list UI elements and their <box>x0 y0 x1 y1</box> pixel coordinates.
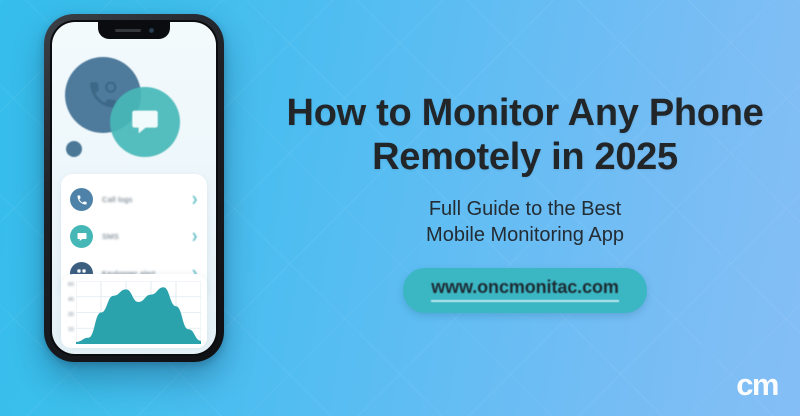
list-item-label: Call logs <box>102 195 182 204</box>
brand-logo-text: cm <box>736 369 778 400</box>
phone-notch <box>98 22 170 39</box>
banner-content: How to Monitor Any Phone Remotely in 202… <box>250 0 800 416</box>
promo-banner: Call logs ❯ SMS ❯ <box>0 0 800 416</box>
headline-line-1: How to Monitor Any Phone <box>287 92 764 134</box>
headline-line-2: Remotely in 2025 <box>372 136 678 178</box>
phone-bezel: Call logs ❯ SMS ❯ <box>50 20 218 356</box>
app-hero-graphic <box>52 39 216 167</box>
website-url-label: www.oncmonitac.com <box>431 277 619 302</box>
subtitle-line-1: Full Guide to the Best <box>429 198 621 220</box>
list-item[interactable]: SMS ❯ <box>61 218 207 255</box>
phone-handset-icon <box>70 188 93 211</box>
speech-bubble-icon <box>70 225 93 248</box>
website-url-button[interactable]: www.oncmonitac.com <box>403 268 647 313</box>
activity-chart-card: 60 45 30 15 <box>61 274 207 348</box>
chart-plot-area <box>76 281 201 344</box>
brand-logo[interactable]: cm <box>736 369 778 400</box>
page-subtitle: Full Guide to the Best Mobile Monitoring… <box>426 196 624 249</box>
phone-mockup: Call logs ❯ SMS ❯ <box>44 14 224 362</box>
front-camera-icon <box>149 28 154 33</box>
y-tick-label: 45 <box>65 297 76 303</box>
y-tick-label: 15 <box>65 327 76 333</box>
area-chart <box>76 281 201 344</box>
chevron-right-icon: ❯ <box>191 232 198 241</box>
speaker-grille-icon <box>115 29 141 33</box>
y-tick-label: 60 <box>65 282 76 288</box>
phone-frame: Call logs ❯ SMS ❯ <box>44 14 224 362</box>
page-title: How to Monitor Any Phone Remotely in 202… <box>287 91 764 180</box>
list-item-label: SMS <box>102 232 182 241</box>
speech-bubble-icon <box>110 87 180 157</box>
chart-y-axis: 60 45 30 15 <box>65 281 76 344</box>
phone-screen: Call logs ❯ SMS ❯ <box>52 22 216 354</box>
chart-area-series <box>76 287 201 344</box>
subtitle-line-2: Mobile Monitoring App <box>426 224 624 246</box>
y-tick-label: 30 <box>65 312 76 318</box>
small-dot <box>66 141 82 157</box>
list-item[interactable]: Call logs ❯ <box>61 181 207 218</box>
chevron-right-icon: ❯ <box>191 195 198 204</box>
